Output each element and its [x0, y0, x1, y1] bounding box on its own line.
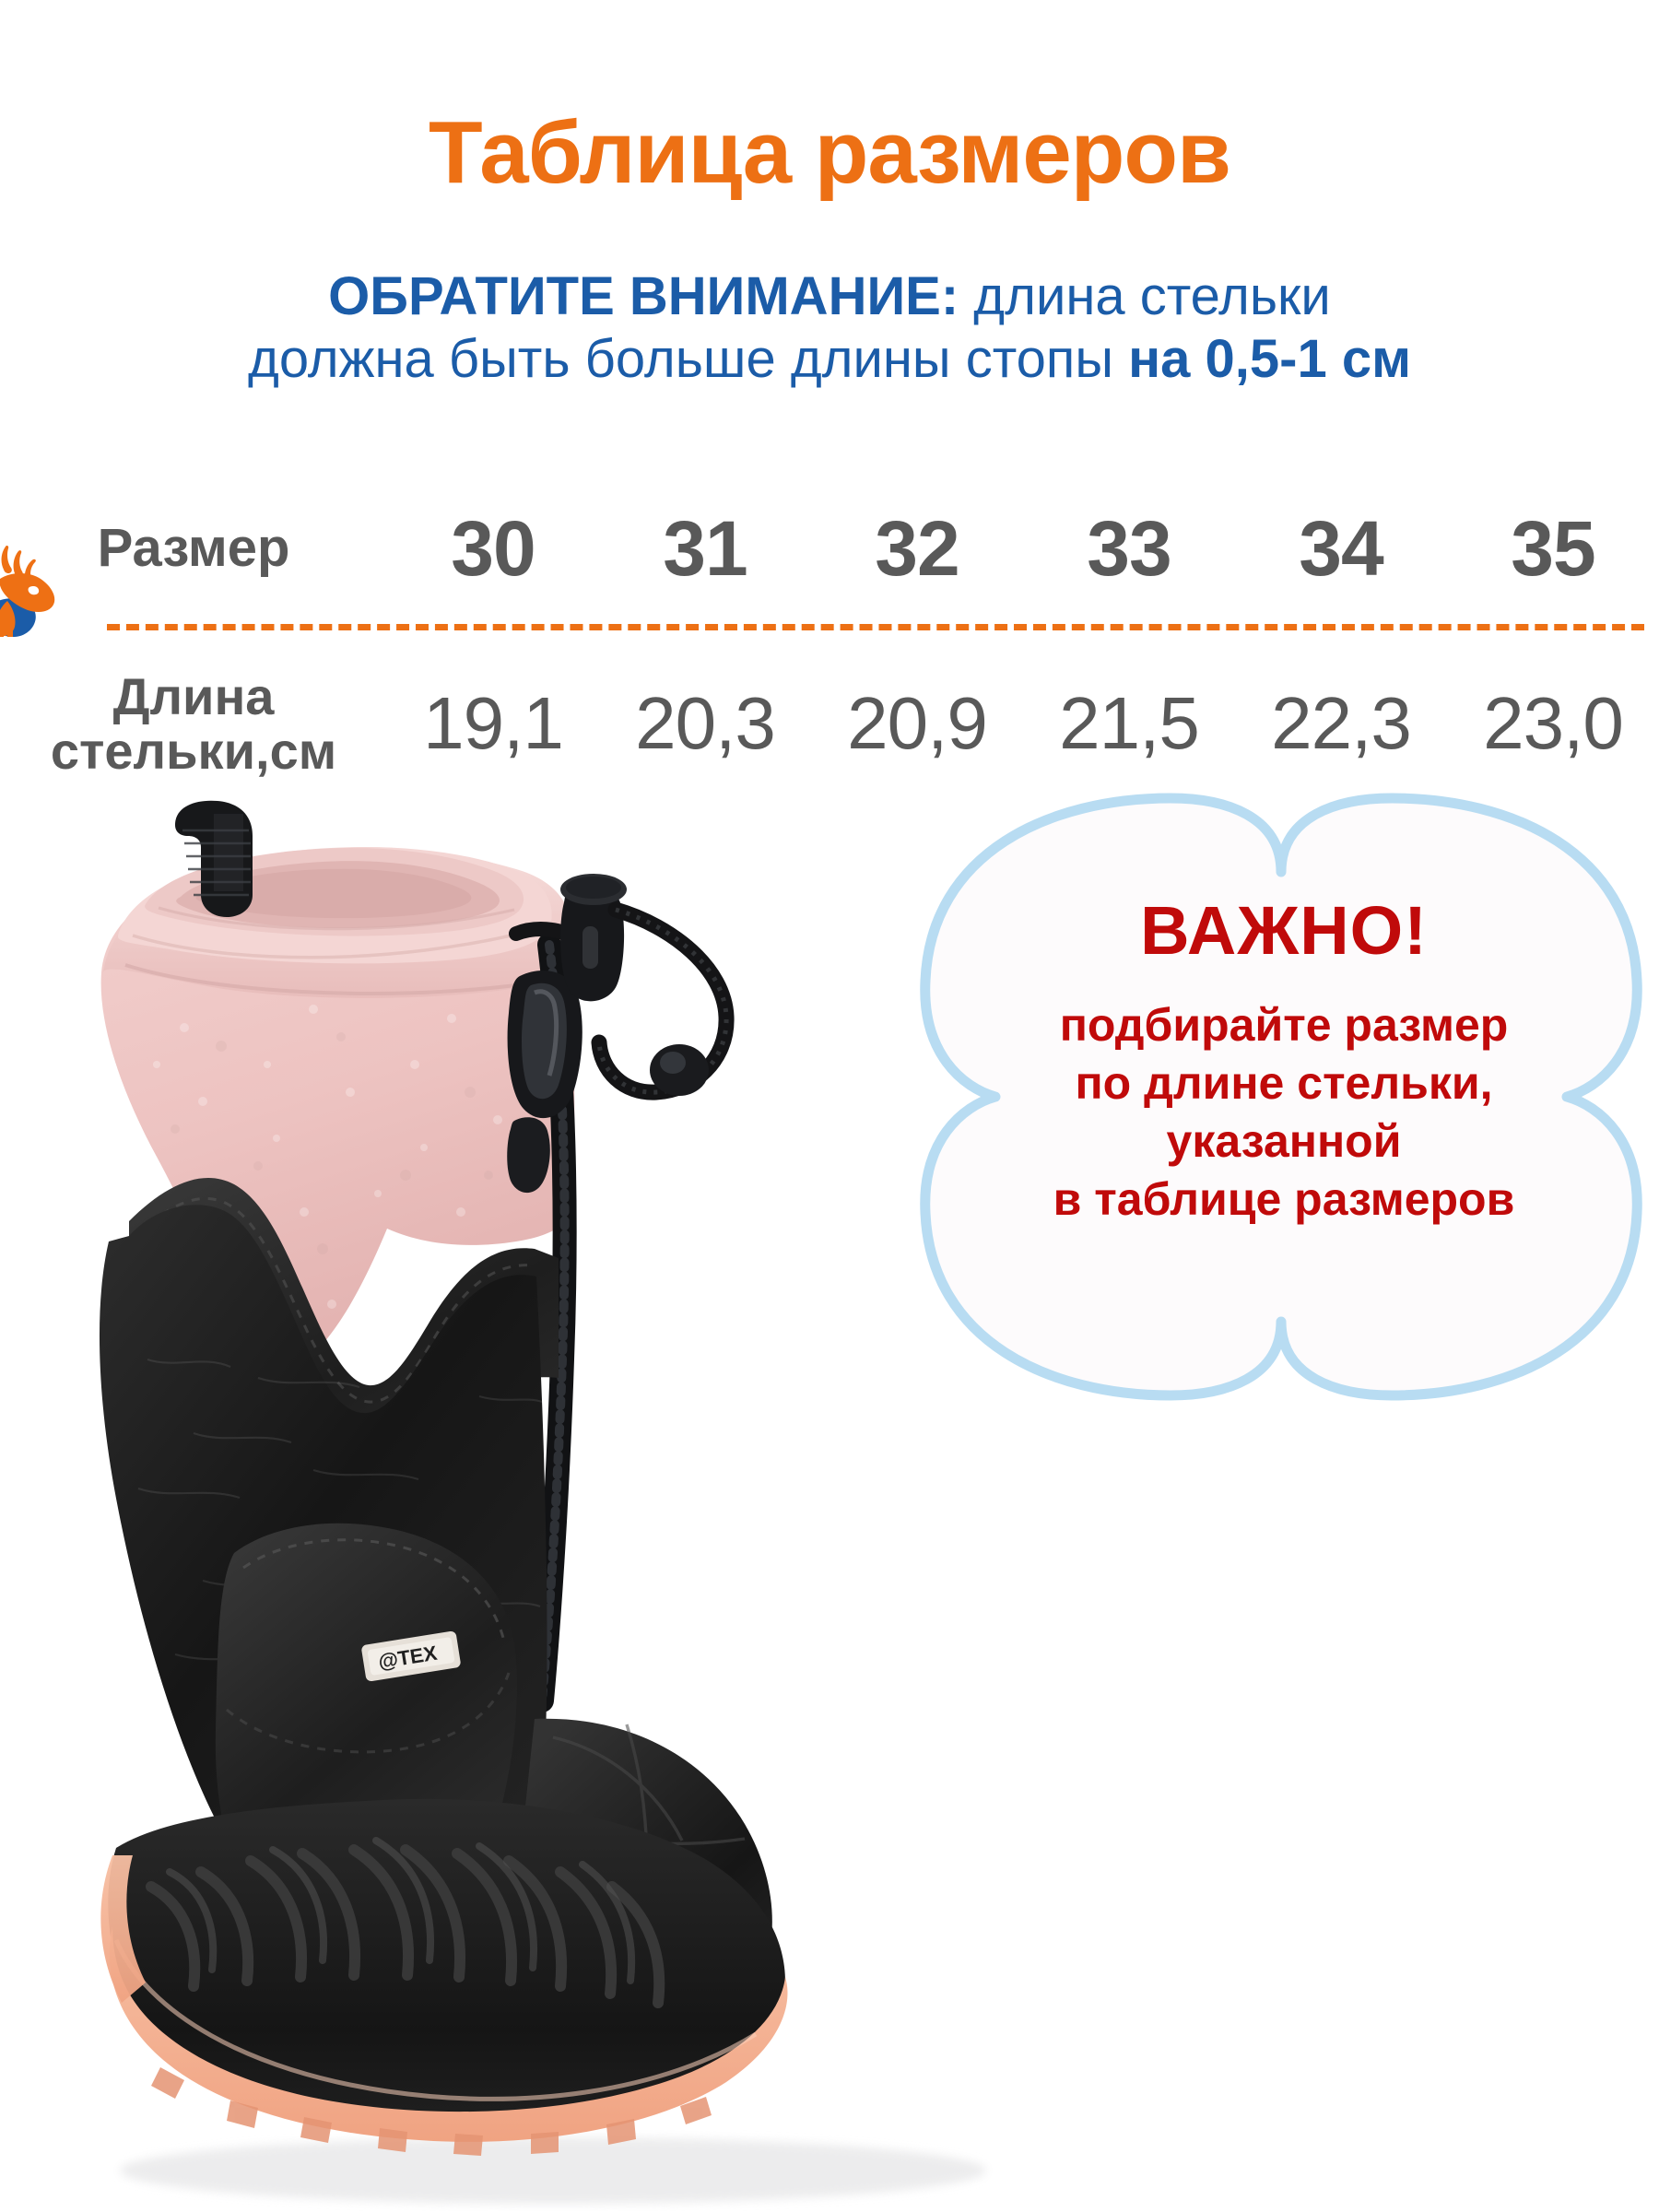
important-callout-text: ВАЖНО! подбирайте размер по длине стельк…	[975, 896, 1593, 1229]
attention-note-line-2-text: должна быть больше длины стопы	[248, 329, 1128, 389]
important-callout-line-4: в таблице размеров	[975, 1171, 1593, 1229]
insole-cell: 23,0	[1447, 681, 1659, 766]
attention-note-line-1: ОБРАТИТЕ ВНИМАНИЕ: длина стельки	[0, 265, 1659, 328]
insole-cell: 20,9	[811, 681, 1023, 766]
size-table-row-sizes: Размер 30 31 32 33 34 35	[0, 498, 1659, 599]
important-callout-heading: ВАЖНО!	[975, 896, 1593, 965]
page-title: Таблица размеров	[0, 109, 1659, 197]
insole-row-label: Длина стельки,см	[0, 669, 387, 779]
important-callout: ВАЖНО! подбирайте размер по длине стельк…	[903, 793, 1659, 1401]
attention-note-line-1-text: длина стельки	[959, 266, 1331, 326]
size-cell: 33	[1023, 504, 1235, 594]
important-callout-line-1: подбирайте размер	[975, 996, 1593, 1054]
size-cell: 30	[387, 504, 599, 594]
attention-note-measurement: на 0,5-1 см	[1128, 329, 1411, 389]
attention-note-emphasis: ОБРАТИТЕ ВНИМАНИЕ:	[328, 266, 959, 326]
important-callout-body: подбирайте размер по длине стельки, указ…	[975, 996, 1593, 1229]
insole-cell: 19,1	[387, 681, 599, 766]
important-callout-line-2: по длине стельки,	[975, 1054, 1593, 1112]
insole-row-label-line-2: стельки,см	[0, 724, 387, 778]
size-table: Размер 30 31 32 33 34 35 Длина стельки,с…	[0, 498, 1659, 793]
size-table-row-insole: Длина стельки,см 19,1 20,3 20,9 21,5 22,…	[0, 664, 1659, 783]
size-cell: 35	[1447, 504, 1659, 594]
size-row-label: Размер	[0, 520, 387, 576]
size-row-cells: 30 31 32 33 34 35	[387, 504, 1659, 594]
size-cell: 31	[599, 504, 811, 594]
size-cell: 32	[811, 504, 1023, 594]
insole-row-cells: 19,1 20,3 20,9 21,5 22,3 23,0	[387, 681, 1659, 766]
insole-row-label-line-1: Длина	[0, 669, 387, 724]
attention-note-line-2: должна быть больше длины стопы на 0,5-1 …	[0, 328, 1659, 391]
insole-cell: 20,3	[599, 681, 811, 766]
size-cell: 34	[1235, 504, 1447, 594]
table-dashed-divider	[107, 624, 1644, 630]
insole-cell: 22,3	[1235, 681, 1447, 766]
important-callout-line-3: указанной	[975, 1112, 1593, 1171]
attention-note: ОБРАТИТЕ ВНИМАНИЕ: длина стельки должна …	[0, 265, 1659, 392]
insole-cell: 21,5	[1023, 681, 1235, 766]
